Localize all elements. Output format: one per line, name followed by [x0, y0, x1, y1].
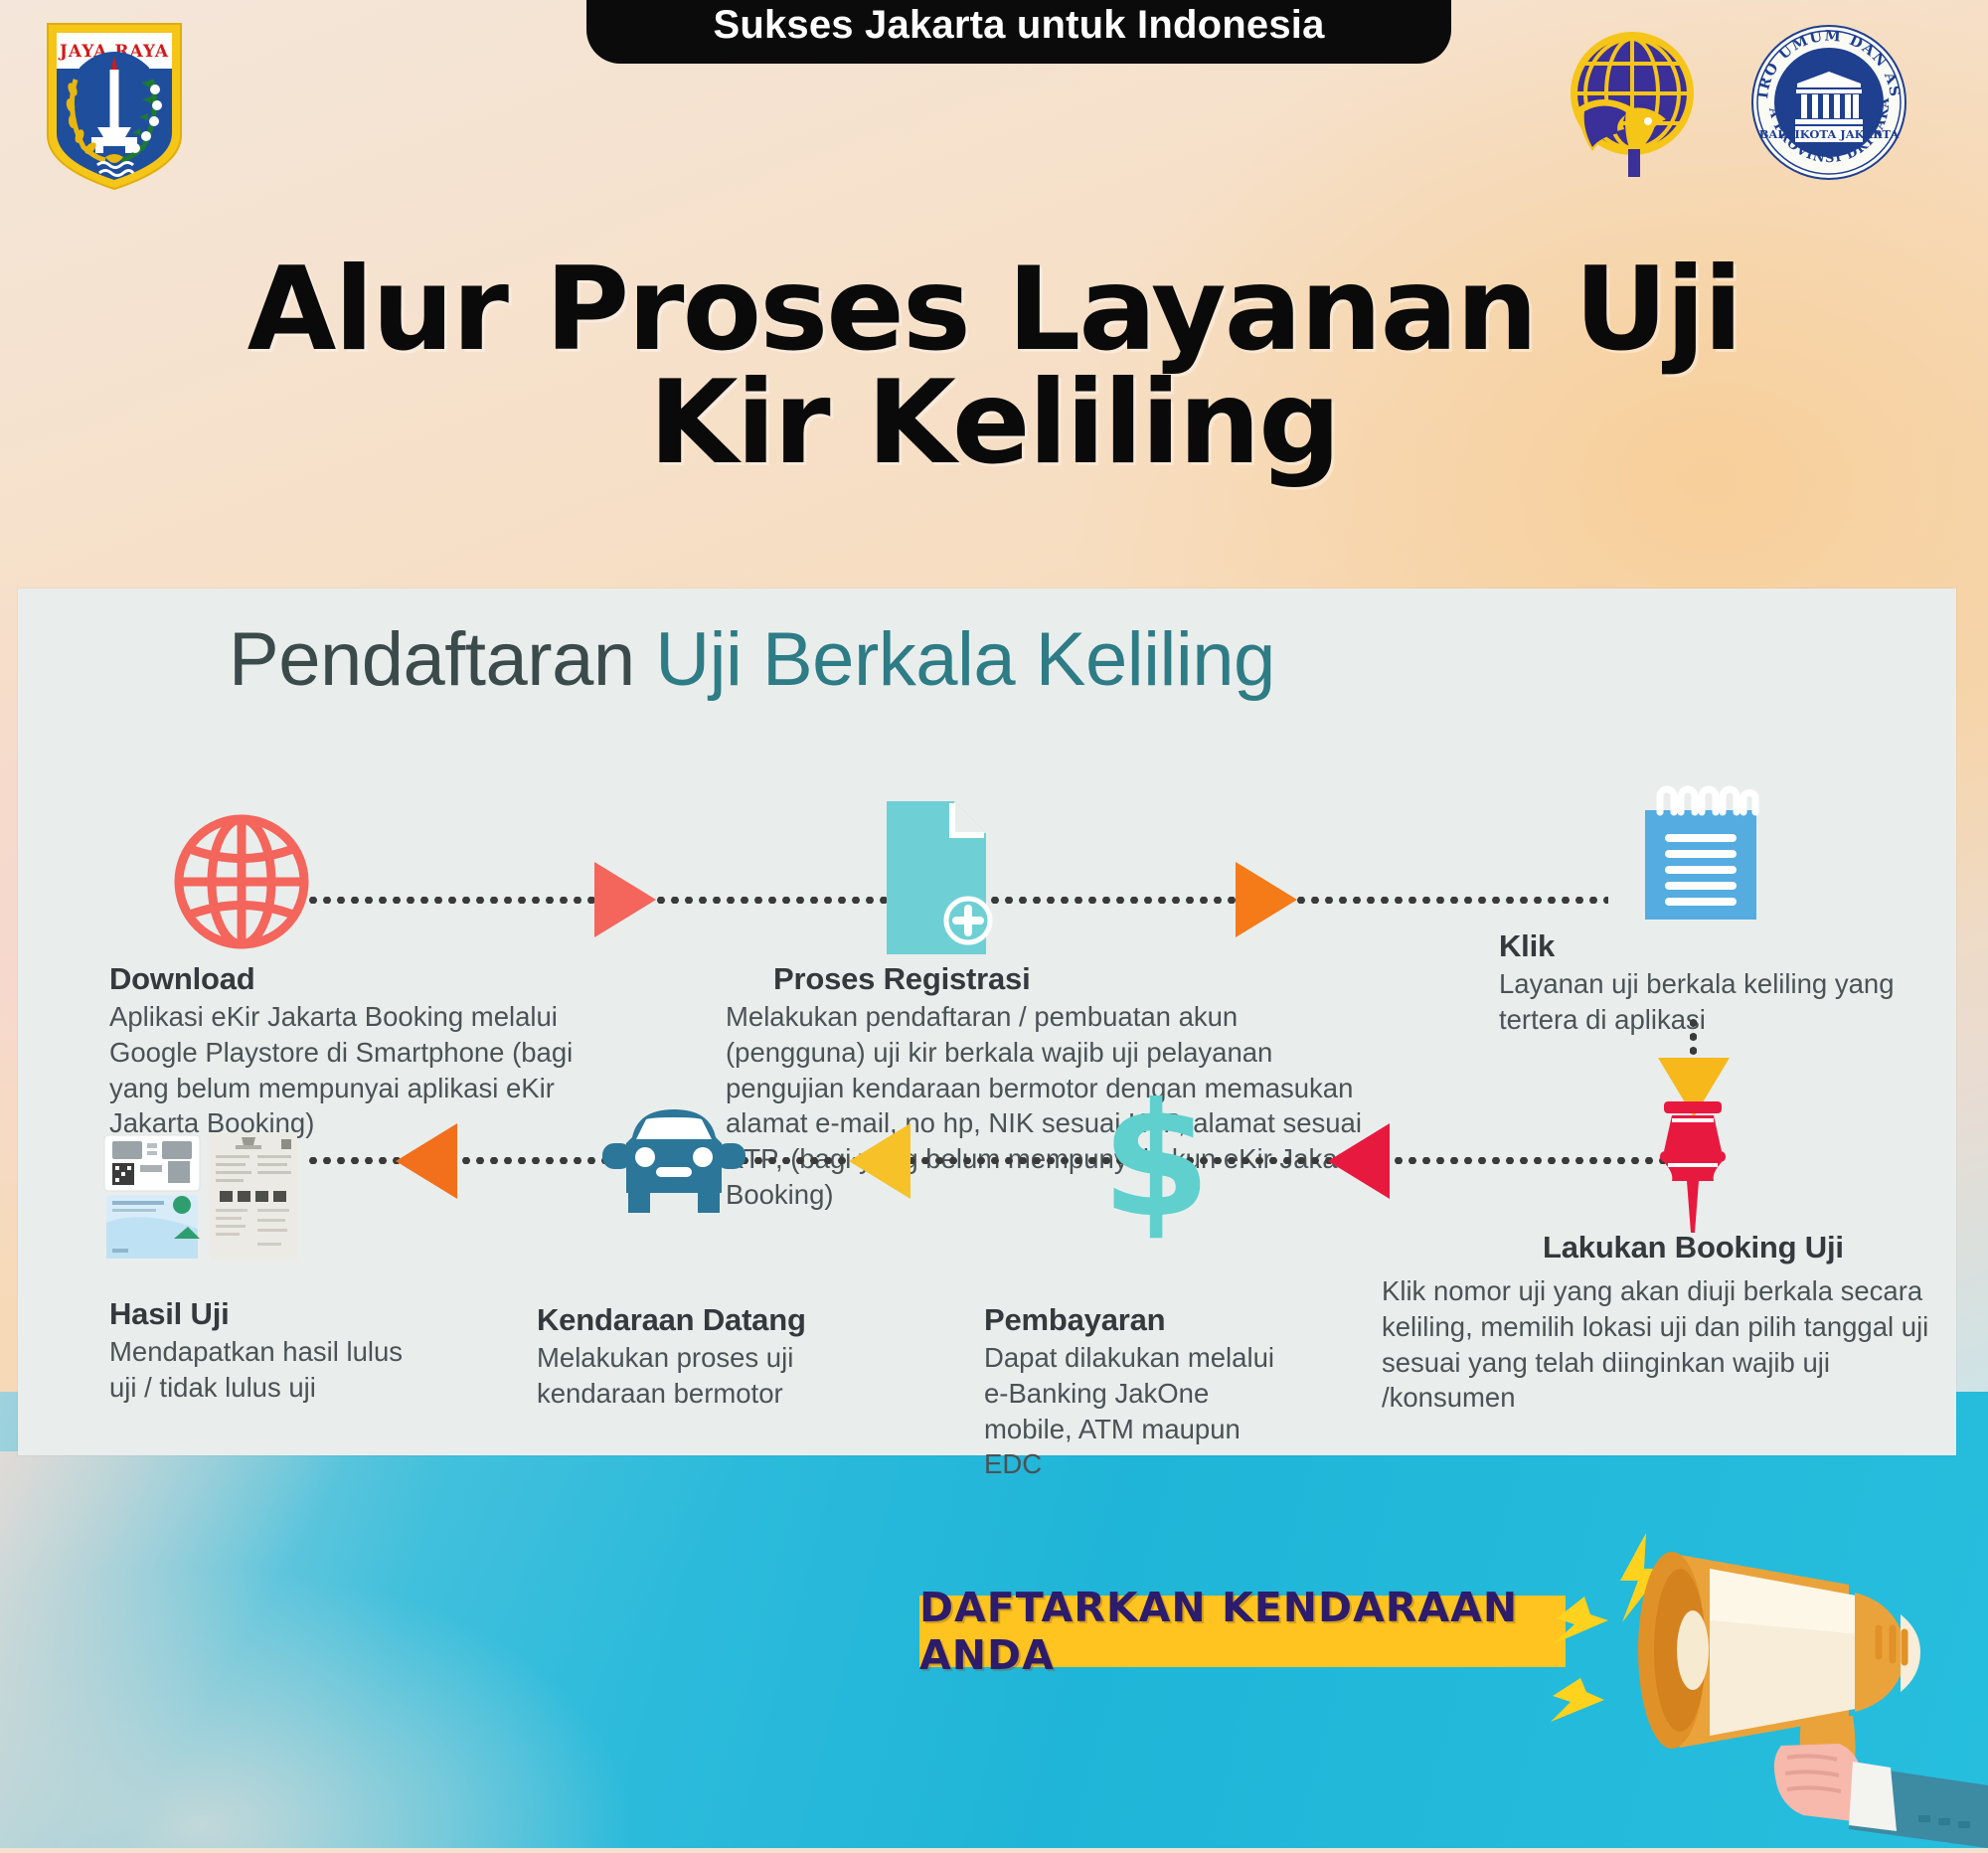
header-banner-text: Sukses Jakarta untuk Indonesia [713, 3, 1324, 48]
flow-panel-title-teal: Uji Berkala Keliling [655, 617, 1275, 702]
step-lakukan-booking-uji-title: Lakukan Booking Uji [1382, 1230, 1938, 1265]
step-proses-registrasi-title: Proses Registrasi [726, 961, 1382, 997]
page-header: JAYA RAYA [0, 0, 1988, 199]
arrow-2-right-icon [1236, 862, 1297, 937]
step-pembayaran-title: Pembayaran [984, 1302, 1302, 1338]
step-kendaraan-datang-title: Kendaraan Datang [537, 1302, 865, 1338]
flow-panel-title: Pendaftaran Uji Berkala Keliling [229, 616, 1275, 703]
dollar-sign-icon: $ [1096, 1084, 1216, 1248]
seal-inner-text: BALAIKOTA JAKARTA [1759, 127, 1901, 141]
page-title-line-1: Alur Proses Layanan Uji [0, 253, 1988, 367]
step-pembayaran-body: Dapat dilakukan melalui e-Banking JakOne… [984, 1340, 1302, 1482]
header-banner: Sukses Jakarta untuk Indonesia [586, 0, 1451, 64]
car-icon [594, 1097, 753, 1232]
step-proses-registrasi-body: Melakukan pendaftaran / pembuatan akun (… [726, 999, 1382, 1213]
ministry-globe-eagle-logo-icon [1549, 22, 1723, 181]
connector-row2 [306, 1157, 1698, 1164]
cta-banner[interactable]: DAFTARKAN KENDARAAN ANDA [919, 1596, 1566, 1667]
cta-banner-label: DAFTARKAN KENDARAAN ANDA [919, 1584, 1566, 1679]
test-result-documents-icon [102, 1133, 301, 1267]
step-download: Download Aplikasi eKir Jakarta Booking m… [109, 961, 577, 1141]
notepad-icon [1633, 782, 1767, 931]
jakarta-emblem-icon: JAYA RAYA [40, 18, 189, 192]
step-kendaraan-datang-body: Melakukan proses uji kendaraan bermotor [537, 1340, 865, 1412]
page-title-line-2: Kir Keliling [0, 367, 1988, 480]
arrow-5-left-icon [849, 1123, 911, 1199]
pushpin-icon [1638, 1094, 1747, 1248]
step-download-body: Aplikasi eKir Jakarta Booking melalui Go… [109, 999, 577, 1141]
svg-text:$: $ [1101, 1084, 1211, 1243]
step-pembayaran: Pembayaran Dapat dilakukan melalui e-Ban… [984, 1302, 1302, 1482]
arrow-6-left-icon [396, 1123, 457, 1199]
document-add-icon [873, 795, 1002, 964]
page-title: Alur Proses Layanan Uji Kir Keliling [0, 253, 1988, 479]
step-hasil-uji-title: Hasil Uji [109, 1296, 437, 1332]
flow-panel: Pendaftaran Uji Berkala Keliling [18, 589, 1956, 1455]
step-download-title: Download [109, 961, 577, 997]
step-klik-body: Layanan uji berkala keliling yang terter… [1499, 966, 1916, 1038]
step-proses-registrasi: Proses Registrasi Melakukan pendaftaran … [726, 961, 1382, 1213]
step-klik: Klik Layanan uji berkala keliling yang t… [1499, 928, 1916, 1038]
step-hasil-uji: Hasil Uji Mendapatkan hasil lulus uji / … [109, 1296, 437, 1406]
biro-umum-seal-logo-icon: BIRO UMUM DAN ASD SETDA PROVINSI DKI JAK… [1749, 24, 1908, 181]
step-hasil-uji-body: Mendapatkan hasil lulus uji / tidak lulu… [109, 1334, 437, 1406]
step-lakukan-booking-uji-body: Klik nomor uji yang akan diuji berkala s… [1382, 1273, 1938, 1416]
step-lakukan-booking-uji: Lakukan Booking Uji Klik nomor uji yang … [1382, 1230, 1938, 1416]
step-klik-title: Klik [1499, 928, 1916, 964]
arrow-4-left-icon [1328, 1123, 1390, 1199]
megaphone-illustration-icon [1551, 1511, 1988, 1848]
globe-icon [162, 802, 321, 966]
step-kendaraan-datang: Kendaraan Datang Melakukan proses uji ke… [537, 1302, 865, 1412]
arrow-1-right-icon [594, 862, 656, 937]
flow-panel-title-dark: Pendaftaran [229, 617, 655, 702]
